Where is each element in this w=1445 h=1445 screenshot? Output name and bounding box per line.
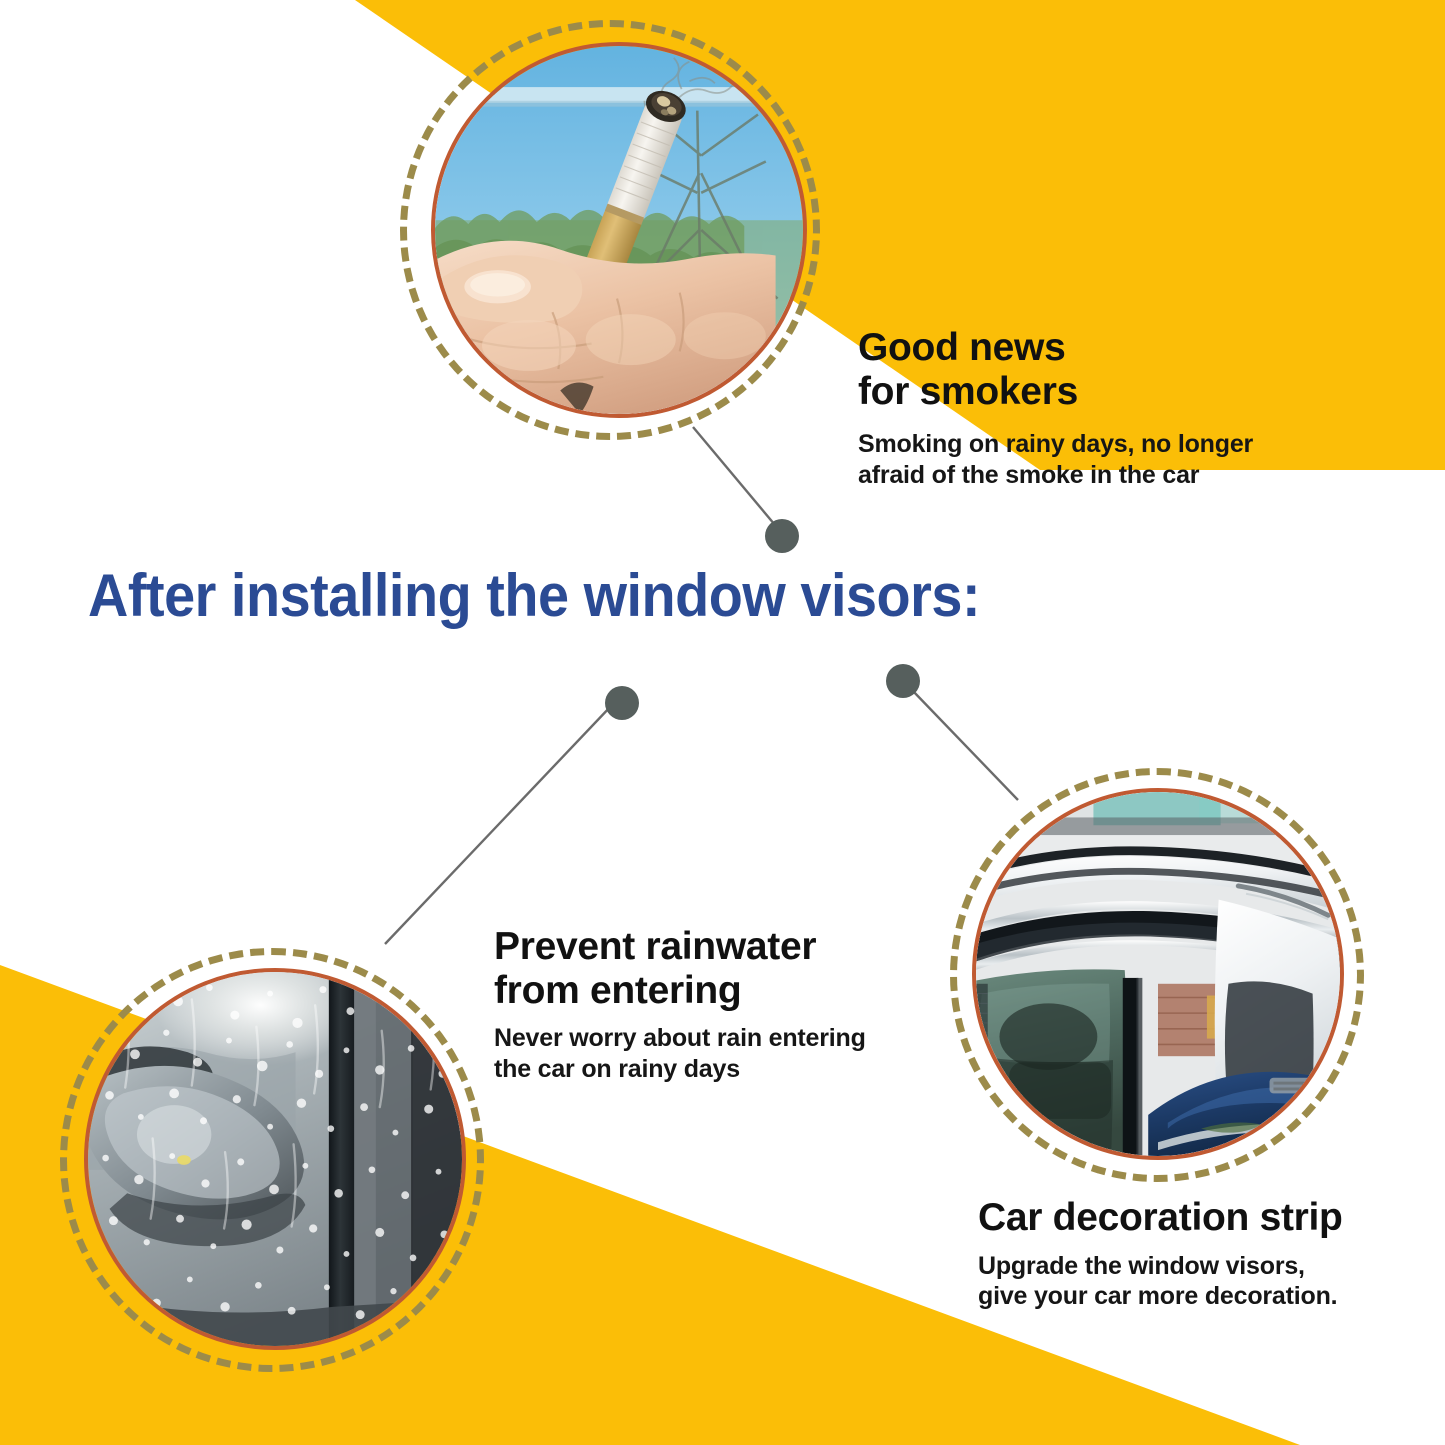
callout-decoration-subtitle: Upgrade the window visors, give your car… — [978, 1240, 1418, 1312]
photo-disc-car-visor — [972, 788, 1344, 1160]
photo-cigarette — [400, 20, 820, 440]
photo-disc-rainy-mirror — [84, 968, 466, 1350]
infographic-canvas: After installing the window visors: Good… — [0, 0, 1445, 1445]
callout-smokers-subtitle: Smoking on rainy days, no longer afraid … — [858, 413, 1328, 490]
connector-dot-smokers — [765, 519, 799, 553]
page-title: After installing the window visors: — [88, 566, 1297, 626]
callout-smokers-title: Good news for smokers — [858, 326, 1328, 413]
callout-rainwater: Prevent rainwater from entering Never wo… — [494, 925, 914, 1084]
callout-rainwater-title: Prevent rainwater from entering — [494, 925, 914, 1012]
callout-decoration-title: Car decoration strip — [978, 1196, 1418, 1240]
callout-smokers: Good news for smokers Smoking on rainy d… — [858, 326, 1328, 490]
photo-disc-cigarette — [431, 42, 807, 418]
photo-car-visor — [950, 768, 1364, 1182]
callout-decoration: Car decoration strip Upgrade the window … — [978, 1196, 1418, 1312]
connector-dot-decoration — [886, 664, 920, 698]
photo-rainy-mirror — [60, 948, 484, 1372]
connector-dot-rainwater — [605, 686, 639, 720]
callout-rainwater-subtitle: Never worry about rain entering the car … — [494, 1012, 914, 1084]
